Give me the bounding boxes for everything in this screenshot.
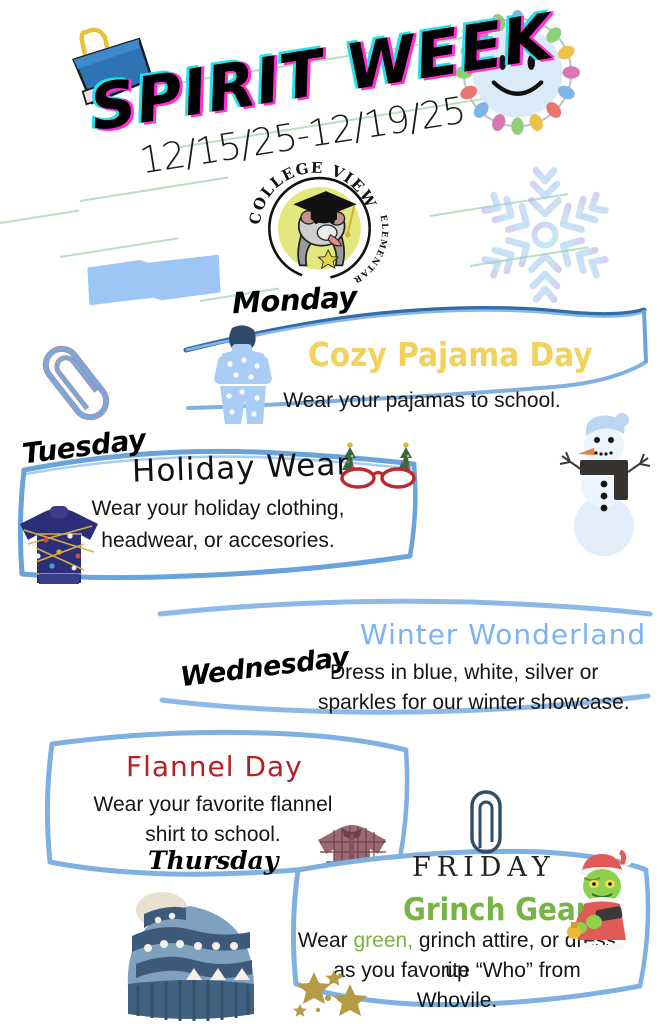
christmas-tree-glasses-icon: [332, 440, 424, 490]
day-label-friday: FRIDAY: [412, 852, 556, 883]
gold-stars-icon: [288, 962, 384, 1022]
theme-title-thursday: Flannel Day: [126, 750, 303, 783]
poster-title-block: SPIRIT WEEK 12/15/25-12/19/25: [60, 18, 530, 138]
description-wednesday-line2: sparkles for our winter showcase.: [318, 688, 648, 718]
friday-text-pre: Wear: [298, 929, 354, 952]
day-label-thursday: Thursday: [148, 846, 278, 875]
description-tuesday-line2: headwear, or accesories.: [58, 526, 378, 556]
school-name-top: COLLEGE VIEW: [246, 162, 381, 226]
paperclip-navy-icon: [462, 786, 510, 858]
theme-title-wednesday: Winter Wonderland: [360, 618, 646, 651]
snowman-icon: [552, 398, 656, 558]
spirit-week-poster: SPIRIT WEEK 12/15/25-12/19/25: [0, 0, 663, 1024]
school-name-arc: COLLEGE VIEW ELEMENTARY: [242, 162, 402, 292]
svg-text:ELEMENTARY: ELEMENTARY: [242, 162, 389, 285]
grinch-santa-icon: [560, 846, 644, 962]
pajama-kid-icon: [202, 320, 284, 430]
theme-title-monday: Cozy Pajama Day: [308, 335, 593, 374]
theme-title-tuesday: Holiday Wear: [131, 446, 350, 490]
svg-text:COLLEGE VIEW: COLLEGE VIEW: [246, 162, 381, 226]
ugly-sweater-icon: [14, 500, 104, 586]
description-wednesday-line1: Dress in blue, white, silver or: [330, 658, 640, 688]
description-tuesday-line1: Wear your holiday clothing,: [58, 494, 378, 524]
guide-line: [0, 209, 79, 223]
description-thursday-line1: Wear your favorite flannel: [58, 790, 368, 820]
friday-text-green: green,: [354, 929, 414, 952]
school-name-side: ELEMENTARY: [242, 162, 389, 285]
day-label-monday: Monday: [231, 280, 357, 320]
paperclip-blue-icon: [34, 336, 118, 430]
description-monday: Wear your pajamas to school.: [262, 386, 582, 416]
guide-line: [60, 237, 179, 258]
winter-beanie-icon: [102, 884, 280, 1024]
